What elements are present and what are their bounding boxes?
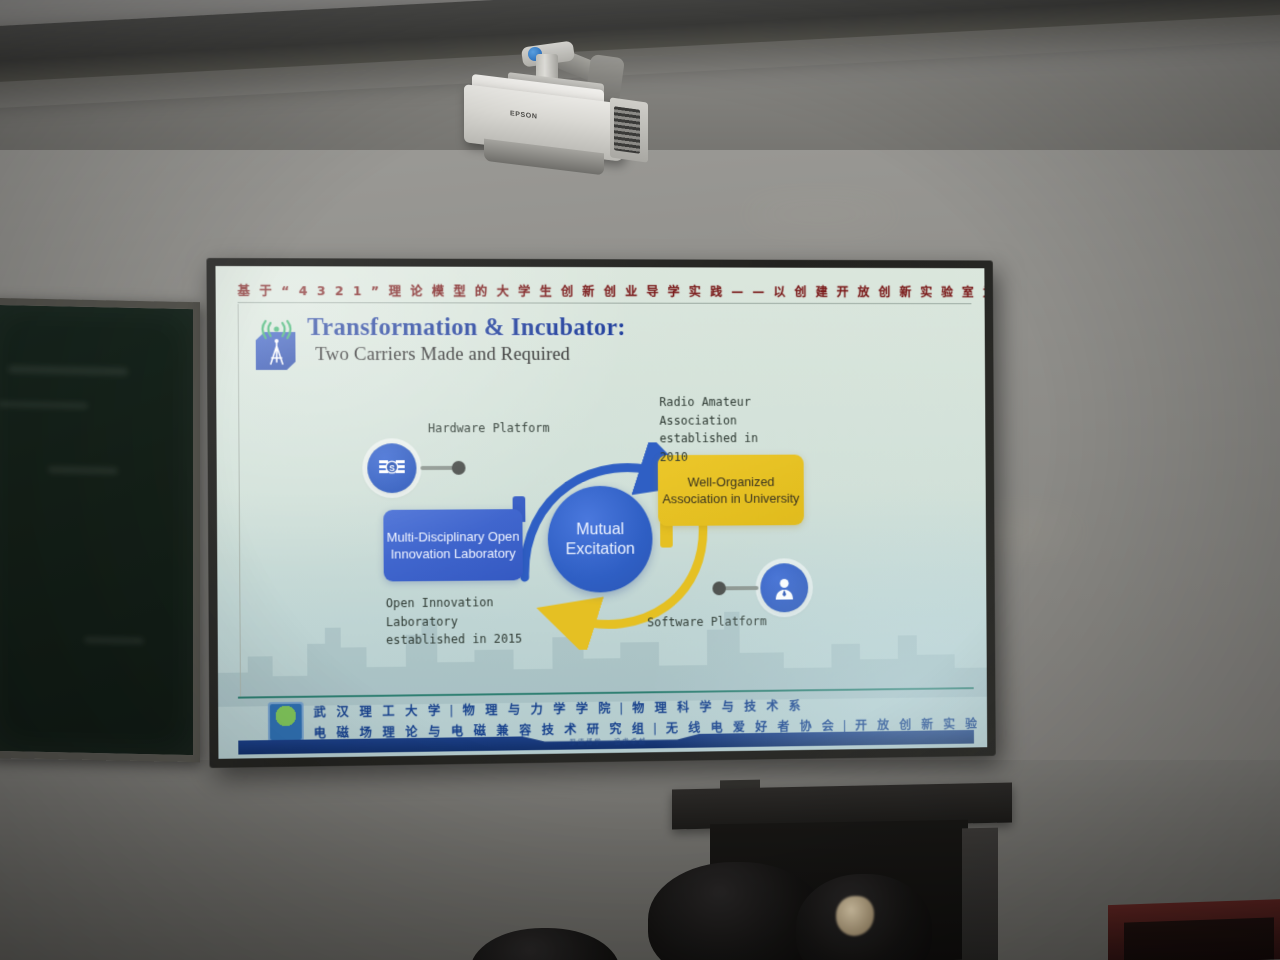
wall-smudge	[740, 205, 900, 223]
money-glyph: S	[378, 455, 406, 481]
hardware-platform-label: Hardware Platform	[428, 419, 550, 438]
screen-bezel: 基 于 “ 4 3 2 1 ” 理 论 模 型 的 大 学 生 创 新 创 业 …	[206, 258, 995, 768]
chalkboard	[0, 298, 200, 762]
footer-sep: |	[837, 718, 856, 733]
hardware-connector	[420, 466, 455, 470]
person-glyph	[772, 575, 797, 601]
software-platform-label: Software Platform	[647, 612, 767, 631]
projector-vent	[614, 106, 640, 154]
lower-wall	[0, 760, 1280, 960]
left-note: Open Innovation Laboratory established i…	[386, 593, 523, 650]
hardware-connector-dot	[452, 461, 466, 475]
university-logo	[268, 702, 304, 742]
slide-surface: 基 于 “ 4 3 2 1 ” 理 论 模 型 的 大 学 生 创 新 创 业 …	[215, 266, 987, 759]
footer-org-1: 武 汉 理 工 大 学	[313, 703, 443, 720]
blue-callout-box: Multi-Disciplinary Open Innovation Labor…	[383, 509, 522, 581]
right-note: Radio Amateur Association established in…	[659, 393, 758, 466]
money-stack-icon: S	[367, 443, 416, 493]
footer-org-3: 物 理 科 学 与 技 术 系	[632, 698, 803, 715]
footer-sep: |	[647, 720, 666, 735]
center-line-2: Excitation	[566, 539, 635, 559]
software-connector-dot	[712, 581, 726, 595]
projection-screen: 基 于 “ 4 3 2 1 ” 理 论 模 型 的 大 学 生 创 新 创 业 …	[208, 258, 1020, 768]
person-icon	[760, 563, 808, 612]
footer-slogan: 厚德博学 · 追求卓越	[569, 736, 647, 747]
footer-sep: |	[613, 700, 632, 715]
center-line-1: Mutual	[576, 519, 624, 539]
svg-text:S: S	[389, 463, 395, 473]
slide-footer: 武 汉 理 工 大 学|物 理 与 力 学 学 院|物 理 科 学 与 技 术 …	[218, 687, 987, 753]
center-node: Mutual Excitation	[548, 486, 653, 593]
footer-org-2: 物 理 与 力 学 学 院	[462, 701, 613, 718]
classroom-scene: EPSON 基 于 “ 4 3 2 1 ” 理 论 模 型 的 大 学 生 创 …	[0, 0, 1280, 960]
cabinet-inner-panel	[1124, 917, 1274, 960]
footer-group-3: 开 放 创 新 实 验 室	[855, 716, 987, 733]
diagram-area: Mutual Excitation Multi-Disciplinary Ope…	[215, 266, 987, 759]
ceiling-projector: EPSON	[462, 42, 662, 172]
footer-sep: |	[443, 703, 462, 718]
